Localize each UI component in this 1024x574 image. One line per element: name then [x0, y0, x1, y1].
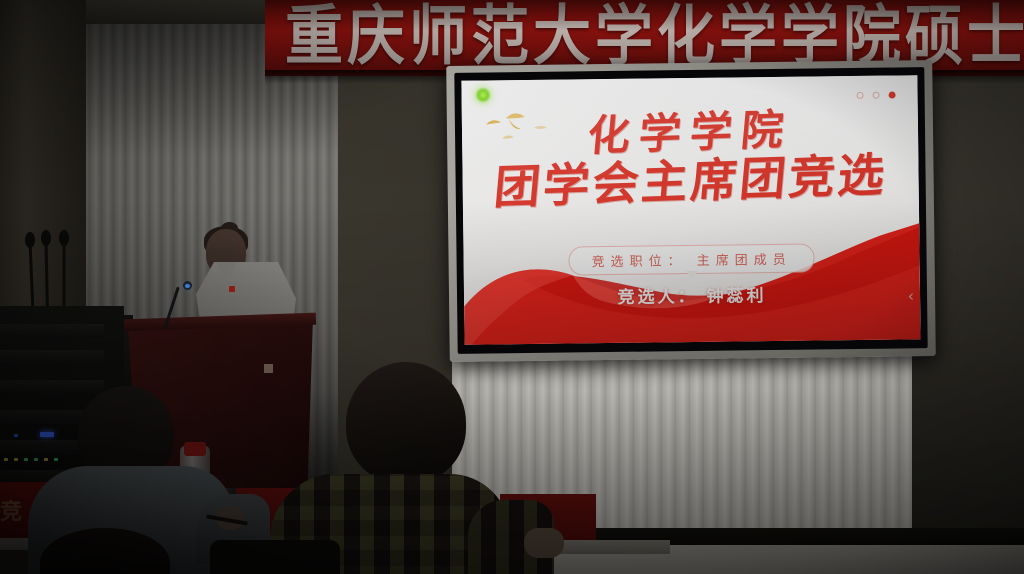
- rack-led-amber-2: [14, 458, 18, 461]
- slide-page-indicator[interactable]: [857, 91, 896, 98]
- table-edge-right: [560, 540, 670, 554]
- screen-bezel: 化学学院 团学会主席团竞选 竞选职位： 主席团成员 竞选人： 钟蕊利 ‹: [454, 67, 927, 354]
- page-dot-1[interactable]: [857, 92, 864, 99]
- microphone-led-icon: [185, 284, 190, 288]
- rack-unit-1: [0, 324, 104, 338]
- presentation-slide: 化学学院 团学会主席团竞选 竞选职位： 主席团成员 竞选人： 钟蕊利 ‹: [461, 75, 920, 345]
- page-dot-2[interactable]: [873, 92, 880, 99]
- slide-title-block: 化学学院 团学会主席团竞选: [462, 109, 919, 208]
- audience-member-plaid-head: [346, 362, 466, 484]
- lecture-hall-scene: 重庆师范大学化学学院硕士学位论文: [0, 0, 1024, 574]
- water-bottle-cap: [184, 442, 206, 456]
- rack-led-blue: [40, 432, 54, 437]
- page-dot-3[interactable]: [889, 91, 896, 98]
- rack-led-amber-3: [44, 458, 48, 461]
- rack-led-blue-2: [14, 434, 18, 437]
- rack-led-green-2: [34, 458, 38, 461]
- presenter-badge: [229, 286, 235, 292]
- chair-back: [210, 540, 340, 574]
- audience-hand-right: [524, 528, 564, 558]
- rack-unit-2: [0, 350, 104, 364]
- slide-canvas: 化学学院 团学会主席团竞选 竞选职位： 主席团成员 竞选人： 钟蕊利 ‹: [461, 75, 920, 345]
- table-banner-char-1: 竞: [0, 494, 22, 526]
- laser-pointer-dot: [475, 87, 490, 102]
- projection-screen[interactable]: 化学学院 团学会主席团竞选 竞选职位： 主席团成员 竞选人： 钟蕊利 ‹: [446, 60, 936, 362]
- caret-down-icon: [686, 271, 698, 278]
- rack-led-green-3: [54, 458, 58, 461]
- rack-led-green-1: [24, 458, 28, 461]
- slide-title-line-2: 团学会主席团竞选: [461, 149, 920, 212]
- chevron-left-icon[interactable]: ‹: [908, 286, 915, 305]
- candidate-name-label: 竞选人： 钟蕊利: [617, 281, 766, 308]
- rack-led-amber-1: [4, 458, 8, 461]
- rack-unit-3: [0, 380, 104, 394]
- lectern-emblem: [264, 364, 273, 373]
